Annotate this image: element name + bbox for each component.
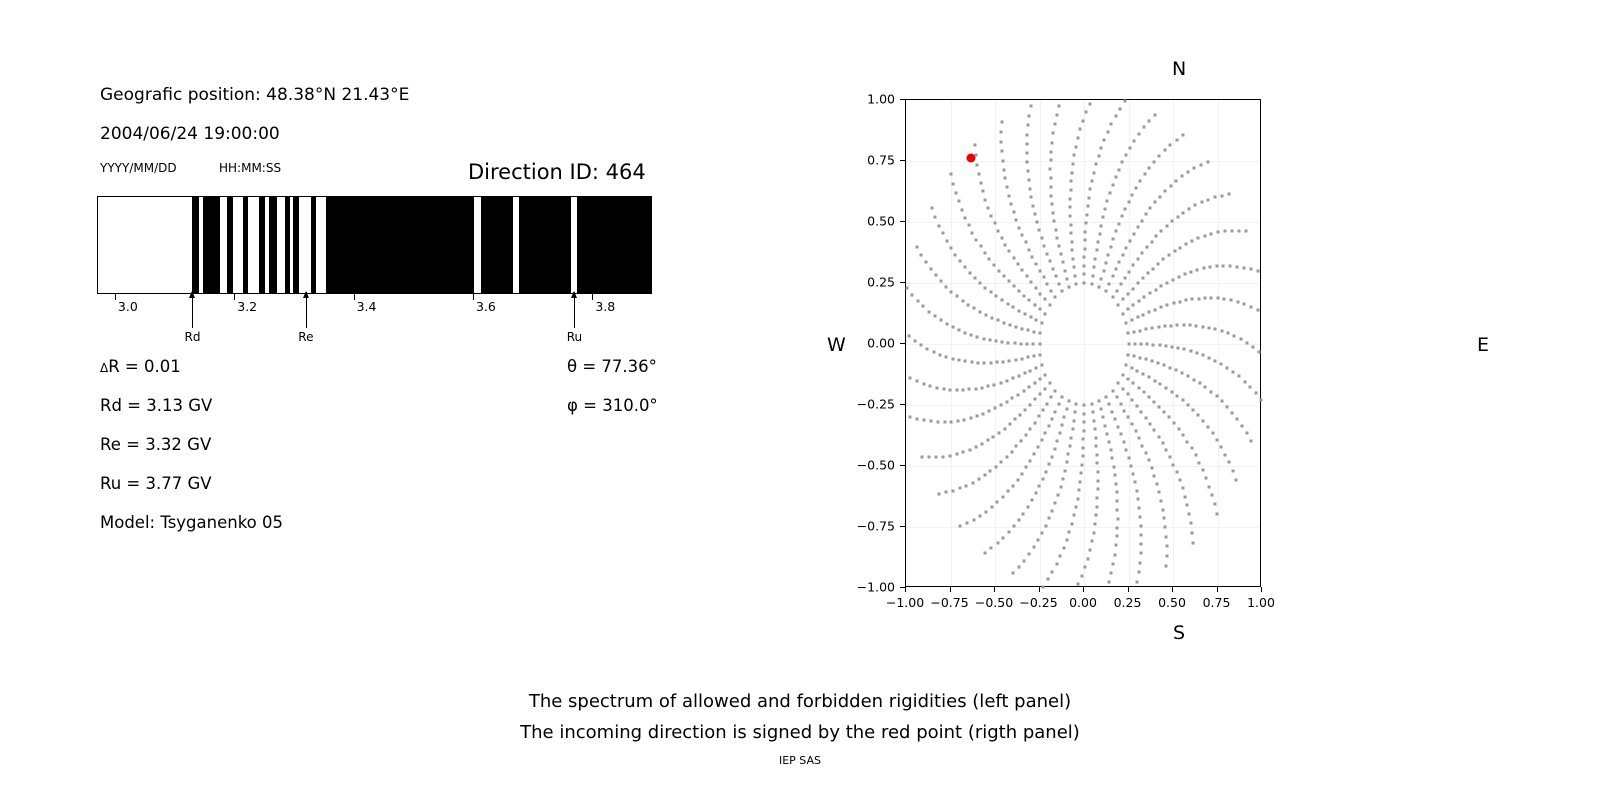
direction-point — [1077, 583, 1080, 586]
forbidden-band — [259, 197, 265, 293]
direction-point — [1106, 432, 1109, 435]
direction-point — [1126, 308, 1129, 311]
direction-point — [1167, 254, 1170, 257]
direction-point — [1033, 453, 1036, 456]
direction-point — [1038, 485, 1041, 488]
direction-point — [1096, 462, 1099, 465]
gridline-vertical — [1084, 100, 1085, 586]
direction-point — [1102, 216, 1105, 219]
direction-point — [1188, 324, 1191, 327]
direction-point — [1124, 363, 1127, 366]
direction-point — [1163, 517, 1166, 520]
direction-point — [1038, 229, 1041, 232]
param-model: Model: Tsyganenko 05 — [100, 513, 283, 532]
direction-point — [1139, 329, 1142, 332]
direction-point — [1083, 282, 1086, 285]
direction-point — [1008, 250, 1011, 253]
direction-point — [1190, 447, 1193, 450]
direction-point — [1063, 416, 1066, 419]
y-axis-tick — [900, 99, 905, 100]
direction-point — [1002, 168, 1005, 171]
direction-point — [1198, 461, 1201, 464]
direction-point — [1126, 332, 1129, 335]
direction-point — [1149, 207, 1152, 210]
direction-point — [963, 418, 966, 421]
direction-point — [1006, 302, 1009, 305]
direction-point — [1177, 427, 1180, 430]
direction-point — [1121, 298, 1124, 301]
direction-point — [1026, 133, 1029, 136]
direction-point — [1155, 235, 1158, 238]
direction-point — [1165, 225, 1168, 228]
direction-point — [1171, 220, 1174, 223]
direction-point — [968, 448, 971, 451]
direction-point — [1158, 491, 1161, 494]
direction-point — [1136, 369, 1139, 372]
direction-point — [1029, 459, 1032, 462]
direction-point — [954, 253, 957, 256]
direction-point — [1197, 237, 1200, 240]
direction-point — [1054, 389, 1057, 392]
direction-point — [1000, 131, 1003, 134]
direction-point — [1127, 416, 1130, 419]
direction-point — [1139, 356, 1142, 359]
left-panel: Geografic position: 48.38°N 21.43°E 2004… — [0, 0, 800, 680]
direction-point — [1207, 326, 1210, 329]
direction-point — [1172, 463, 1175, 466]
direction-point — [958, 487, 961, 490]
direction-point — [1153, 379, 1156, 382]
direction-point — [1168, 456, 1171, 459]
spectrum-axis-tick-label: 3.2 — [237, 299, 257, 314]
direction-point — [1031, 255, 1034, 258]
direction-point — [1172, 422, 1175, 425]
direction-point — [1139, 179, 1142, 182]
direction-point — [1042, 276, 1045, 279]
direction-point — [1117, 168, 1120, 171]
direction-point — [1200, 201, 1203, 204]
direction-point — [1131, 193, 1134, 196]
direction-point — [1220, 362, 1223, 365]
direction-point — [1109, 245, 1112, 248]
direction-point — [1024, 433, 1027, 436]
direction-point — [1017, 290, 1020, 293]
direction-point — [1015, 218, 1018, 221]
direction-point — [911, 293, 914, 296]
direction-point — [1041, 363, 1044, 366]
direction-point — [1129, 464, 1132, 467]
direction-point — [1163, 364, 1166, 367]
direction-point — [957, 200, 960, 203]
forbidden-band — [243, 197, 248, 293]
direction-point — [1139, 515, 1142, 518]
direction-point — [1204, 386, 1207, 389]
direction-point — [1191, 531, 1194, 534]
direction-point — [1192, 541, 1195, 544]
direction-point — [1179, 246, 1182, 249]
direction-point — [926, 347, 929, 350]
direction-point — [1052, 211, 1055, 214]
direction-point — [1194, 204, 1197, 207]
direction-point — [1005, 455, 1008, 458]
rigidity-marker-re-label: Re — [298, 330, 313, 344]
direction-point — [1159, 383, 1162, 386]
direction-point — [1116, 508, 1119, 511]
direction-point — [1201, 325, 1204, 328]
direction-point — [1136, 581, 1139, 584]
gridline-horizontal — [906, 344, 1260, 345]
direction-point — [1239, 338, 1242, 341]
direction-point — [1231, 469, 1234, 472]
direction-point — [945, 356, 948, 359]
y-axis-tick-label: −0.25 — [848, 397, 895, 412]
direction-point — [1041, 322, 1044, 325]
datetime-value: 2004/06/24 19:00:00 — [100, 124, 280, 144]
direction-point — [1169, 143, 1172, 146]
forbidden-band — [293, 197, 299, 293]
direction-point — [1029, 316, 1032, 319]
direction-point — [1142, 313, 1145, 316]
direction-point — [1075, 145, 1078, 148]
direction-point — [1100, 408, 1103, 411]
direction-point — [1165, 449, 1168, 452]
direction-point — [949, 454, 952, 457]
direction-point — [1051, 267, 1054, 270]
direction-point — [1054, 228, 1057, 231]
forbidden-band — [577, 197, 652, 293]
direction-point — [1053, 447, 1056, 450]
direction-point — [1131, 287, 1134, 290]
direction-point — [1051, 203, 1054, 206]
direction-point — [1023, 559, 1026, 562]
direction-point — [1130, 366, 1133, 369]
direction-point — [1070, 436, 1073, 439]
forbidden-band — [326, 197, 474, 293]
direction-point — [984, 198, 987, 201]
direction-point — [1037, 539, 1040, 542]
direction-point — [1148, 166, 1151, 169]
direction-point — [1059, 253, 1062, 256]
direction-point — [1121, 387, 1124, 390]
direction-point — [1071, 428, 1074, 431]
direction-point — [1094, 257, 1097, 260]
direction-point — [1163, 149, 1166, 152]
direction-point — [909, 415, 912, 418]
direction-point — [976, 336, 979, 339]
direction-point — [1138, 506, 1141, 509]
direction-point — [1012, 285, 1015, 288]
direction-point — [1214, 328, 1217, 331]
direction-point — [975, 163, 978, 166]
direction-point — [1035, 262, 1038, 265]
direction-point — [984, 551, 987, 554]
direction-point — [1002, 536, 1005, 539]
x-axis-tick — [1172, 587, 1173, 592]
direction-point — [1155, 483, 1158, 486]
direction-point — [1165, 386, 1168, 389]
direction-point — [1070, 240, 1073, 243]
direction-point — [1202, 267, 1205, 270]
direction-point — [1112, 562, 1115, 565]
direction-point — [1041, 478, 1044, 481]
direction-point — [1197, 297, 1200, 300]
direction-point — [1215, 265, 1218, 268]
direction-point — [975, 238, 978, 241]
direction-point — [1029, 369, 1032, 372]
direction-point — [1165, 564, 1168, 567]
direction-point — [909, 377, 912, 380]
direction-point — [980, 442, 983, 445]
direction-point — [962, 451, 965, 454]
direction-point — [922, 382, 925, 385]
direction-point — [1012, 256, 1015, 259]
spectrum-axis-tick-label: 3.8 — [595, 299, 615, 314]
direction-point — [1157, 435, 1160, 438]
direction-point — [1035, 366, 1038, 369]
direction-point — [1150, 240, 1153, 243]
direction-point — [1126, 292, 1129, 295]
direction-point — [1089, 188, 1092, 191]
direction-point — [1026, 329, 1029, 332]
direction-point — [1065, 539, 1068, 542]
direction-point — [1040, 237, 1043, 240]
direction-point — [1136, 316, 1139, 319]
direction-point — [1017, 393, 1020, 396]
direction-point — [1004, 177, 1007, 180]
direction-point — [1082, 412, 1085, 415]
direction-point — [1145, 328, 1148, 331]
direction-point — [1213, 503, 1216, 506]
direction-point — [1028, 553, 1031, 556]
direction-point — [1237, 229, 1240, 232]
direction-point — [1016, 478, 1019, 481]
direction-point — [1033, 212, 1036, 215]
direction-point — [1226, 366, 1229, 369]
rigidity-marker-ru-label: Ru — [567, 330, 582, 344]
direction-point — [1181, 134, 1184, 137]
direction-point — [1151, 327, 1154, 330]
direction-point — [1214, 359, 1217, 362]
spectrum-axis-tick-label: 3.4 — [357, 299, 377, 314]
direction-point — [1117, 425, 1120, 428]
direction-point — [979, 245, 982, 248]
direction-point — [939, 280, 942, 283]
direction-point — [973, 276, 976, 279]
direction-point — [1029, 403, 1032, 406]
x-axis-tick — [1039, 587, 1040, 592]
direction-point — [1029, 187, 1032, 190]
direction-point — [923, 419, 926, 422]
direction-point — [1097, 241, 1100, 244]
direction-point — [1024, 241, 1027, 244]
direction-point — [1033, 381, 1036, 384]
direction-point — [1181, 487, 1184, 490]
direction-point — [1180, 175, 1183, 178]
direction-point — [1206, 160, 1209, 163]
forbidden-band — [311, 197, 316, 293]
direction-point — [1028, 385, 1031, 388]
direction-point — [1157, 362, 1160, 365]
forbidden-band — [481, 197, 513, 293]
direction-point — [1033, 330, 1036, 333]
direction-point — [1145, 246, 1148, 249]
direction-point — [987, 385, 990, 388]
incoming-direction-marker — [966, 154, 975, 163]
direction-point — [967, 303, 970, 306]
direction-point — [1057, 403, 1060, 406]
direction-point — [1102, 269, 1105, 272]
x-axis-tick — [950, 587, 951, 592]
direction-point — [1102, 416, 1105, 419]
direction-point — [1086, 205, 1089, 208]
direction-point — [960, 208, 963, 211]
direction-point — [1228, 193, 1231, 196]
direction-point — [1056, 236, 1059, 239]
direction-point — [950, 290, 953, 293]
y-axis-tick-label: 0.25 — [848, 275, 895, 290]
direction-point — [1002, 321, 1005, 324]
direction-point — [1044, 312, 1047, 315]
direction-point — [1049, 159, 1052, 162]
direction-point — [977, 172, 980, 175]
direction-point — [1256, 270, 1259, 273]
direction-point — [1183, 348, 1186, 351]
direction-point — [1243, 303, 1246, 306]
direction-point — [1127, 343, 1130, 346]
direction-point — [1130, 423, 1133, 426]
direction-point — [996, 542, 999, 545]
direction-point — [1110, 571, 1113, 574]
direction-point — [1070, 232, 1073, 235]
direction-point — [1098, 232, 1101, 235]
direction-point — [1183, 273, 1186, 276]
direction-point — [963, 265, 966, 268]
direction-point — [1026, 161, 1029, 164]
direction-point — [994, 407, 997, 410]
direction-point — [1164, 526, 1167, 529]
direction-point — [1082, 119, 1085, 122]
direction-point — [1226, 405, 1229, 408]
direction-point — [932, 351, 935, 354]
direction-point — [1061, 261, 1064, 264]
x-axis-tick — [1217, 587, 1218, 592]
direction-point — [1152, 343, 1155, 346]
direction-point — [1195, 324, 1198, 327]
direction-point — [1039, 353, 1042, 356]
direction-point — [1060, 395, 1063, 398]
direction-point — [1063, 469, 1066, 472]
direction-point — [1109, 449, 1112, 452]
direction-point — [955, 452, 958, 455]
direction-point — [1005, 379, 1008, 382]
direction-point — [1073, 419, 1076, 422]
direction-point — [1158, 154, 1161, 157]
direction-point — [978, 310, 981, 313]
direction-point — [1252, 346, 1255, 349]
spectrum-bar — [97, 196, 652, 294]
direction-point — [1068, 444, 1071, 447]
direction-point — [1186, 440, 1189, 443]
direction-point — [1027, 179, 1030, 182]
direction-point — [1139, 552, 1142, 555]
direction-point — [1082, 438, 1085, 441]
direction-point — [1073, 514, 1076, 517]
direction-point — [1127, 456, 1130, 459]
direction-point — [1153, 475, 1156, 478]
direction-point — [1118, 107, 1121, 110]
direction-point — [1187, 171, 1190, 174]
direction-point — [1000, 121, 1003, 124]
direction-point — [1125, 246, 1128, 249]
direction-point — [1048, 260, 1051, 263]
direction-point — [920, 253, 923, 256]
direction-point — [1187, 375, 1190, 378]
direction-point — [1193, 378, 1196, 381]
direction-point — [1005, 400, 1008, 403]
direction-point — [984, 313, 987, 316]
direction-point — [1030, 499, 1033, 502]
direction-point — [1012, 572, 1015, 575]
direction-point — [1169, 366, 1172, 369]
direction-point — [1177, 275, 1180, 278]
direction-point — [1027, 248, 1030, 251]
direction-point — [1033, 421, 1036, 424]
direction-point — [1173, 250, 1176, 253]
direction-point — [1160, 306, 1163, 309]
x-axis-tick — [994, 587, 995, 592]
direction-point — [1093, 522, 1096, 525]
direction-point — [1039, 332, 1042, 335]
direction-point — [971, 231, 974, 234]
direction-point — [952, 489, 955, 492]
direction-point — [1023, 294, 1026, 297]
forbidden-band — [269, 197, 277, 293]
direction-point — [997, 229, 1000, 232]
direction-point — [1116, 500, 1119, 503]
direction-point — [1015, 445, 1018, 448]
direction-point — [957, 329, 960, 332]
direction-point — [1182, 324, 1185, 327]
direction-point — [1123, 276, 1126, 279]
direction-point — [962, 388, 965, 391]
direction-point — [1119, 283, 1122, 286]
direction-point — [1259, 398, 1262, 401]
direction-point — [1044, 298, 1047, 301]
direction-point — [1210, 297, 1213, 300]
direction-point — [1096, 479, 1099, 482]
direction-point — [1026, 170, 1029, 173]
direction-point — [1106, 130, 1109, 133]
direction-point — [1144, 213, 1147, 216]
direction-point — [1061, 424, 1064, 427]
direction-point — [1104, 424, 1107, 427]
direction-point — [1095, 445, 1098, 448]
direction-point — [1120, 215, 1123, 218]
direction-point — [1065, 277, 1068, 280]
direction-point — [1158, 344, 1161, 347]
direction-point — [949, 246, 952, 249]
x-axis-tick — [1128, 587, 1129, 592]
direction-point — [1112, 465, 1115, 468]
direction-point — [1201, 354, 1204, 357]
direction-point — [1133, 481, 1136, 484]
direction-point — [1244, 230, 1247, 233]
y-axis-tick-label: −1.00 — [848, 580, 895, 595]
direction-point — [1054, 296, 1057, 299]
polar-scatter-plot — [905, 99, 1261, 587]
direction-point — [1184, 299, 1187, 302]
direction-point — [1083, 239, 1086, 242]
